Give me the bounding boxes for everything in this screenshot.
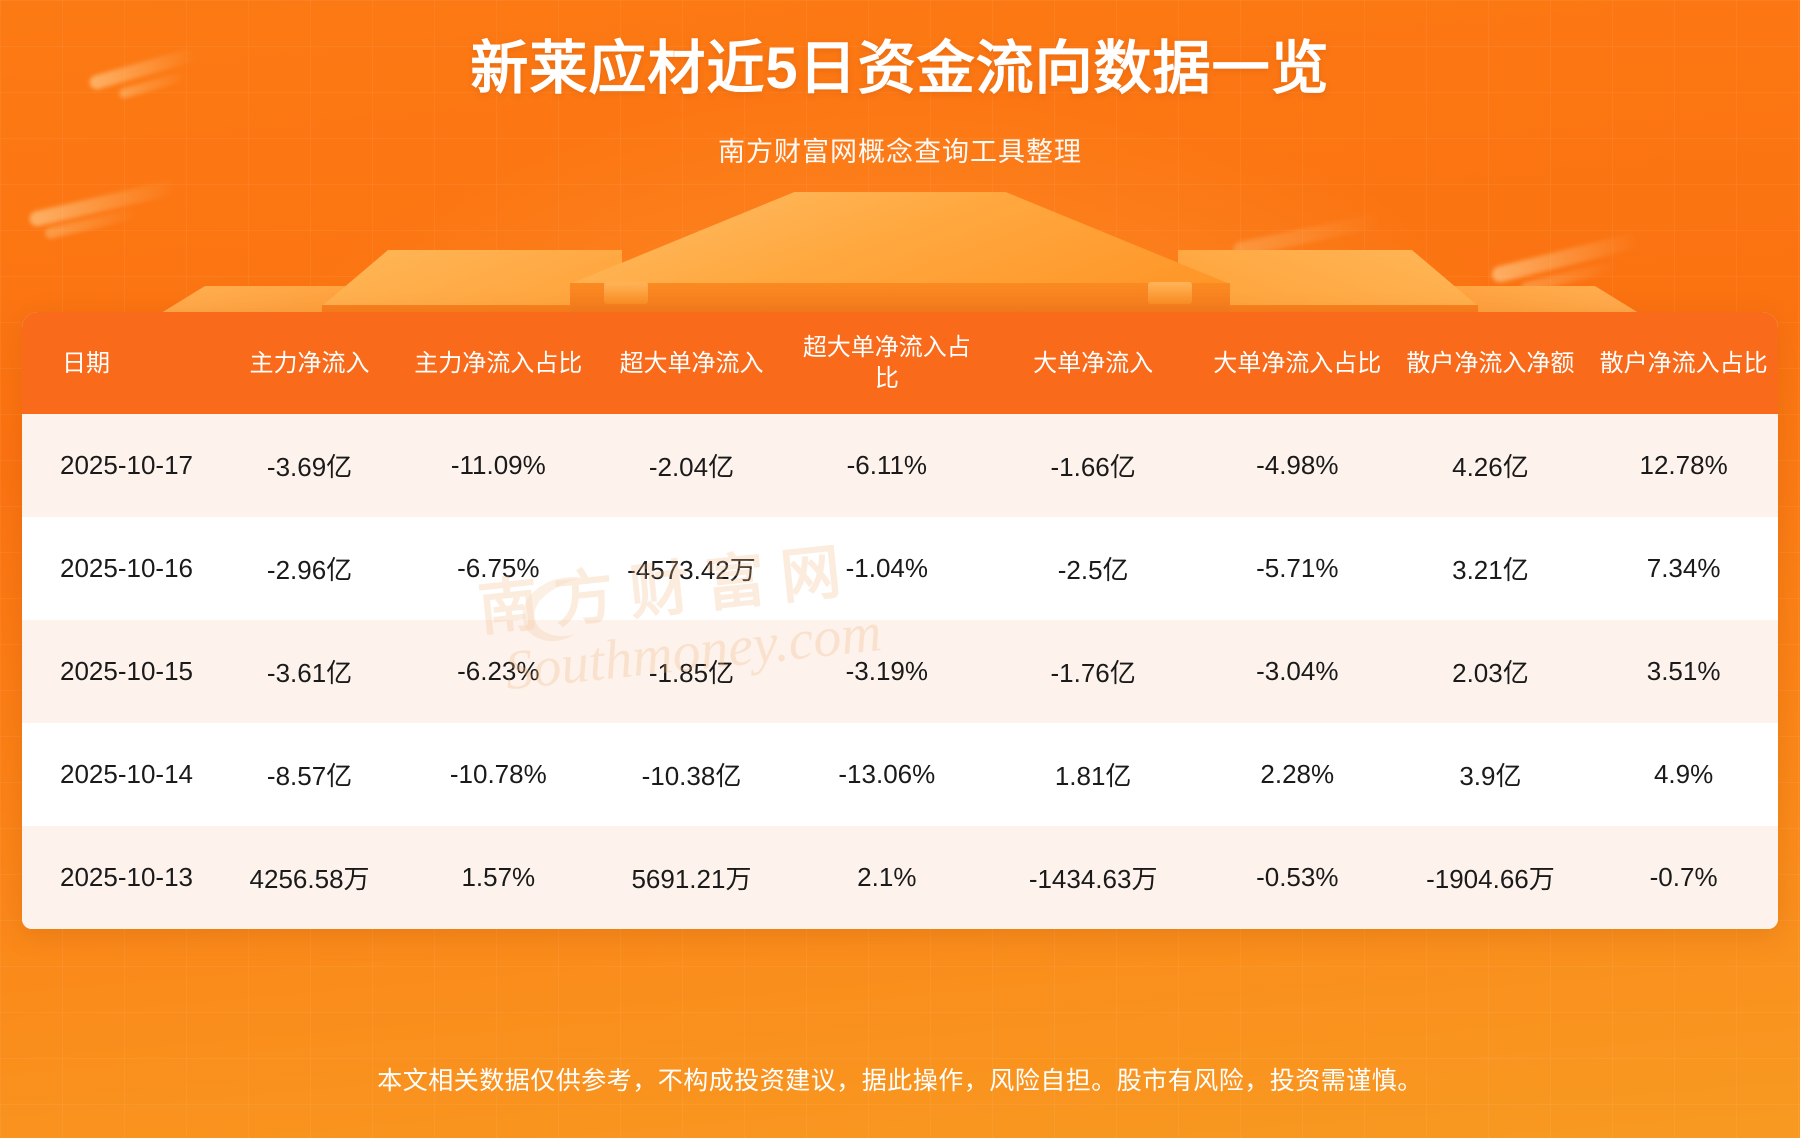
cell-super-pct: -1.04%: [790, 517, 983, 620]
column-header-super-net: 超大单净流入: [593, 312, 791, 414]
cell-retail-pct: 4.9%: [1589, 723, 1778, 826]
cell-large-net: -2.5亿: [983, 517, 1203, 620]
podium-left-top: [322, 250, 622, 306]
cell-large-net: -1.66亿: [983, 414, 1203, 517]
page-title: 新莱应材近5日资金流向数据一览: [0, 34, 1800, 104]
cell-large-pct: -5.71%: [1203, 517, 1392, 620]
cell-main-net: -3.69亿: [215, 414, 404, 517]
table-row: 2025-10-16 -2.96亿 -6.75% -4573.42万 -1.04…: [22, 517, 1778, 620]
cell-large-net: -1.76亿: [983, 620, 1203, 723]
cell-retail-pct: 3.51%: [1589, 620, 1778, 723]
column-header-main-net: 主力净流入: [215, 312, 404, 414]
light-streak-decoration: [1232, 213, 1382, 259]
column-header-large-pct: 大单净流入占比: [1203, 312, 1392, 414]
cell-super-pct: 2.1%: [790, 826, 983, 929]
podium-nub: [604, 282, 648, 304]
fund-flow-table: 日期 主力净流入 主力净流入占比 超大单净流入 超大单净流入占比 大单净流入 大…: [22, 312, 1778, 929]
column-header-main-pct: 主力净流入占比: [404, 312, 593, 414]
data-table-card: 日期 主力净流入 主力净流入占比 超大单净流入 超大单净流入占比 大单净流入 大…: [22, 312, 1778, 929]
cell-super-net: -4573.42万: [593, 517, 791, 620]
table-row: 2025-10-14 -8.57亿 -10.78% -10.38亿 -13.06…: [22, 723, 1778, 826]
column-header-super-pct: 超大单净流入占比: [790, 312, 983, 414]
cell-super-net: 5691.21万: [593, 826, 791, 929]
light-streak-decoration: [28, 179, 178, 227]
cell-main-pct: 1.57%: [404, 826, 593, 929]
column-header-large-net: 大单净流入: [983, 312, 1203, 414]
cell-main-pct: -6.23%: [404, 620, 593, 723]
cell-retail-net: 4.26亿: [1392, 414, 1590, 517]
light-streak-decoration: [1490, 232, 1639, 284]
cell-super-pct: -13.06%: [790, 723, 983, 826]
cell-main-net: -8.57亿: [215, 723, 404, 826]
cell-large-net: -1434.63万: [983, 826, 1203, 929]
cell-large-pct: -3.04%: [1203, 620, 1392, 723]
cell-large-pct: -0.53%: [1203, 826, 1392, 929]
page-subtitle: 南方财富网概念查询工具整理: [0, 130, 1800, 169]
cell-date: 2025-10-13: [22, 826, 215, 929]
podium-center-top: [570, 192, 1230, 284]
cell-retail-pct: -0.7%: [1589, 826, 1778, 929]
table-row: 2025-10-13 4256.58万 1.57% 5691.21万 2.1% …: [22, 826, 1778, 929]
cell-date: 2025-10-14: [22, 723, 215, 826]
cell-large-net: 1.81亿: [983, 723, 1203, 826]
table-row: 2025-10-17 -3.69亿 -11.09% -2.04亿 -6.11% …: [22, 414, 1778, 517]
column-header-date: 日期: [22, 312, 215, 414]
table-row: 2025-10-15 -3.61亿 -6.23% -1.85亿 -3.19% -…: [22, 620, 1778, 723]
cell-retail-pct: 7.34%: [1589, 517, 1778, 620]
cell-main-net: 4256.58万: [215, 826, 404, 929]
cell-main-net: -3.61亿: [215, 620, 404, 723]
cell-date: 2025-10-16: [22, 517, 215, 620]
cell-retail-net: 3.9亿: [1392, 723, 1590, 826]
cell-super-pct: -3.19%: [790, 620, 983, 723]
cell-retail-pct: 12.78%: [1589, 414, 1778, 517]
table-header-row: 日期 主力净流入 主力净流入占比 超大单净流入 超大单净流入占比 大单净流入 大…: [22, 312, 1778, 414]
cell-main-net: -2.96亿: [215, 517, 404, 620]
cell-super-pct: -6.11%: [790, 414, 983, 517]
cell-main-pct: -11.09%: [404, 414, 593, 517]
cell-retail-net: -1904.66万: [1392, 826, 1590, 929]
cell-date: 2025-10-17: [22, 414, 215, 517]
page-header: 新莱应材近5日资金流向数据一览 南方财富网概念查询工具整理: [0, 0, 1800, 169]
footer-disclaimer: 本文相关数据仅供参考，不构成投资建议，据此操作，风险自担。股市有风险，投资需谨慎…: [377, 1061, 1423, 1097]
cell-super-net: -2.04亿: [593, 414, 791, 517]
podium-right-top: [1178, 250, 1478, 306]
cell-date: 2025-10-15: [22, 620, 215, 723]
cell-super-net: -1.85亿: [593, 620, 791, 723]
cell-large-pct: 2.28%: [1203, 723, 1392, 826]
cell-super-net: -10.38亿: [593, 723, 791, 826]
column-header-retail-net: 散户净流入净额: [1392, 312, 1590, 414]
cell-main-pct: -6.75%: [404, 517, 593, 620]
cell-main-pct: -10.78%: [404, 723, 593, 826]
podium-nub: [1148, 282, 1192, 304]
cell-retail-net: 3.21亿: [1392, 517, 1590, 620]
light-streak-decoration: [1520, 261, 1616, 295]
column-header-retail-pct: 散户净流入占比: [1589, 312, 1778, 414]
footer: 本文相关数据仅供参考，不构成投资建议，据此操作，风险自担。股市有风险，投资需谨慎…: [0, 1020, 1800, 1138]
cell-retail-net: 2.03亿: [1392, 620, 1590, 723]
cell-large-pct: -4.98%: [1203, 414, 1392, 517]
light-streak-decoration: [44, 207, 140, 239]
